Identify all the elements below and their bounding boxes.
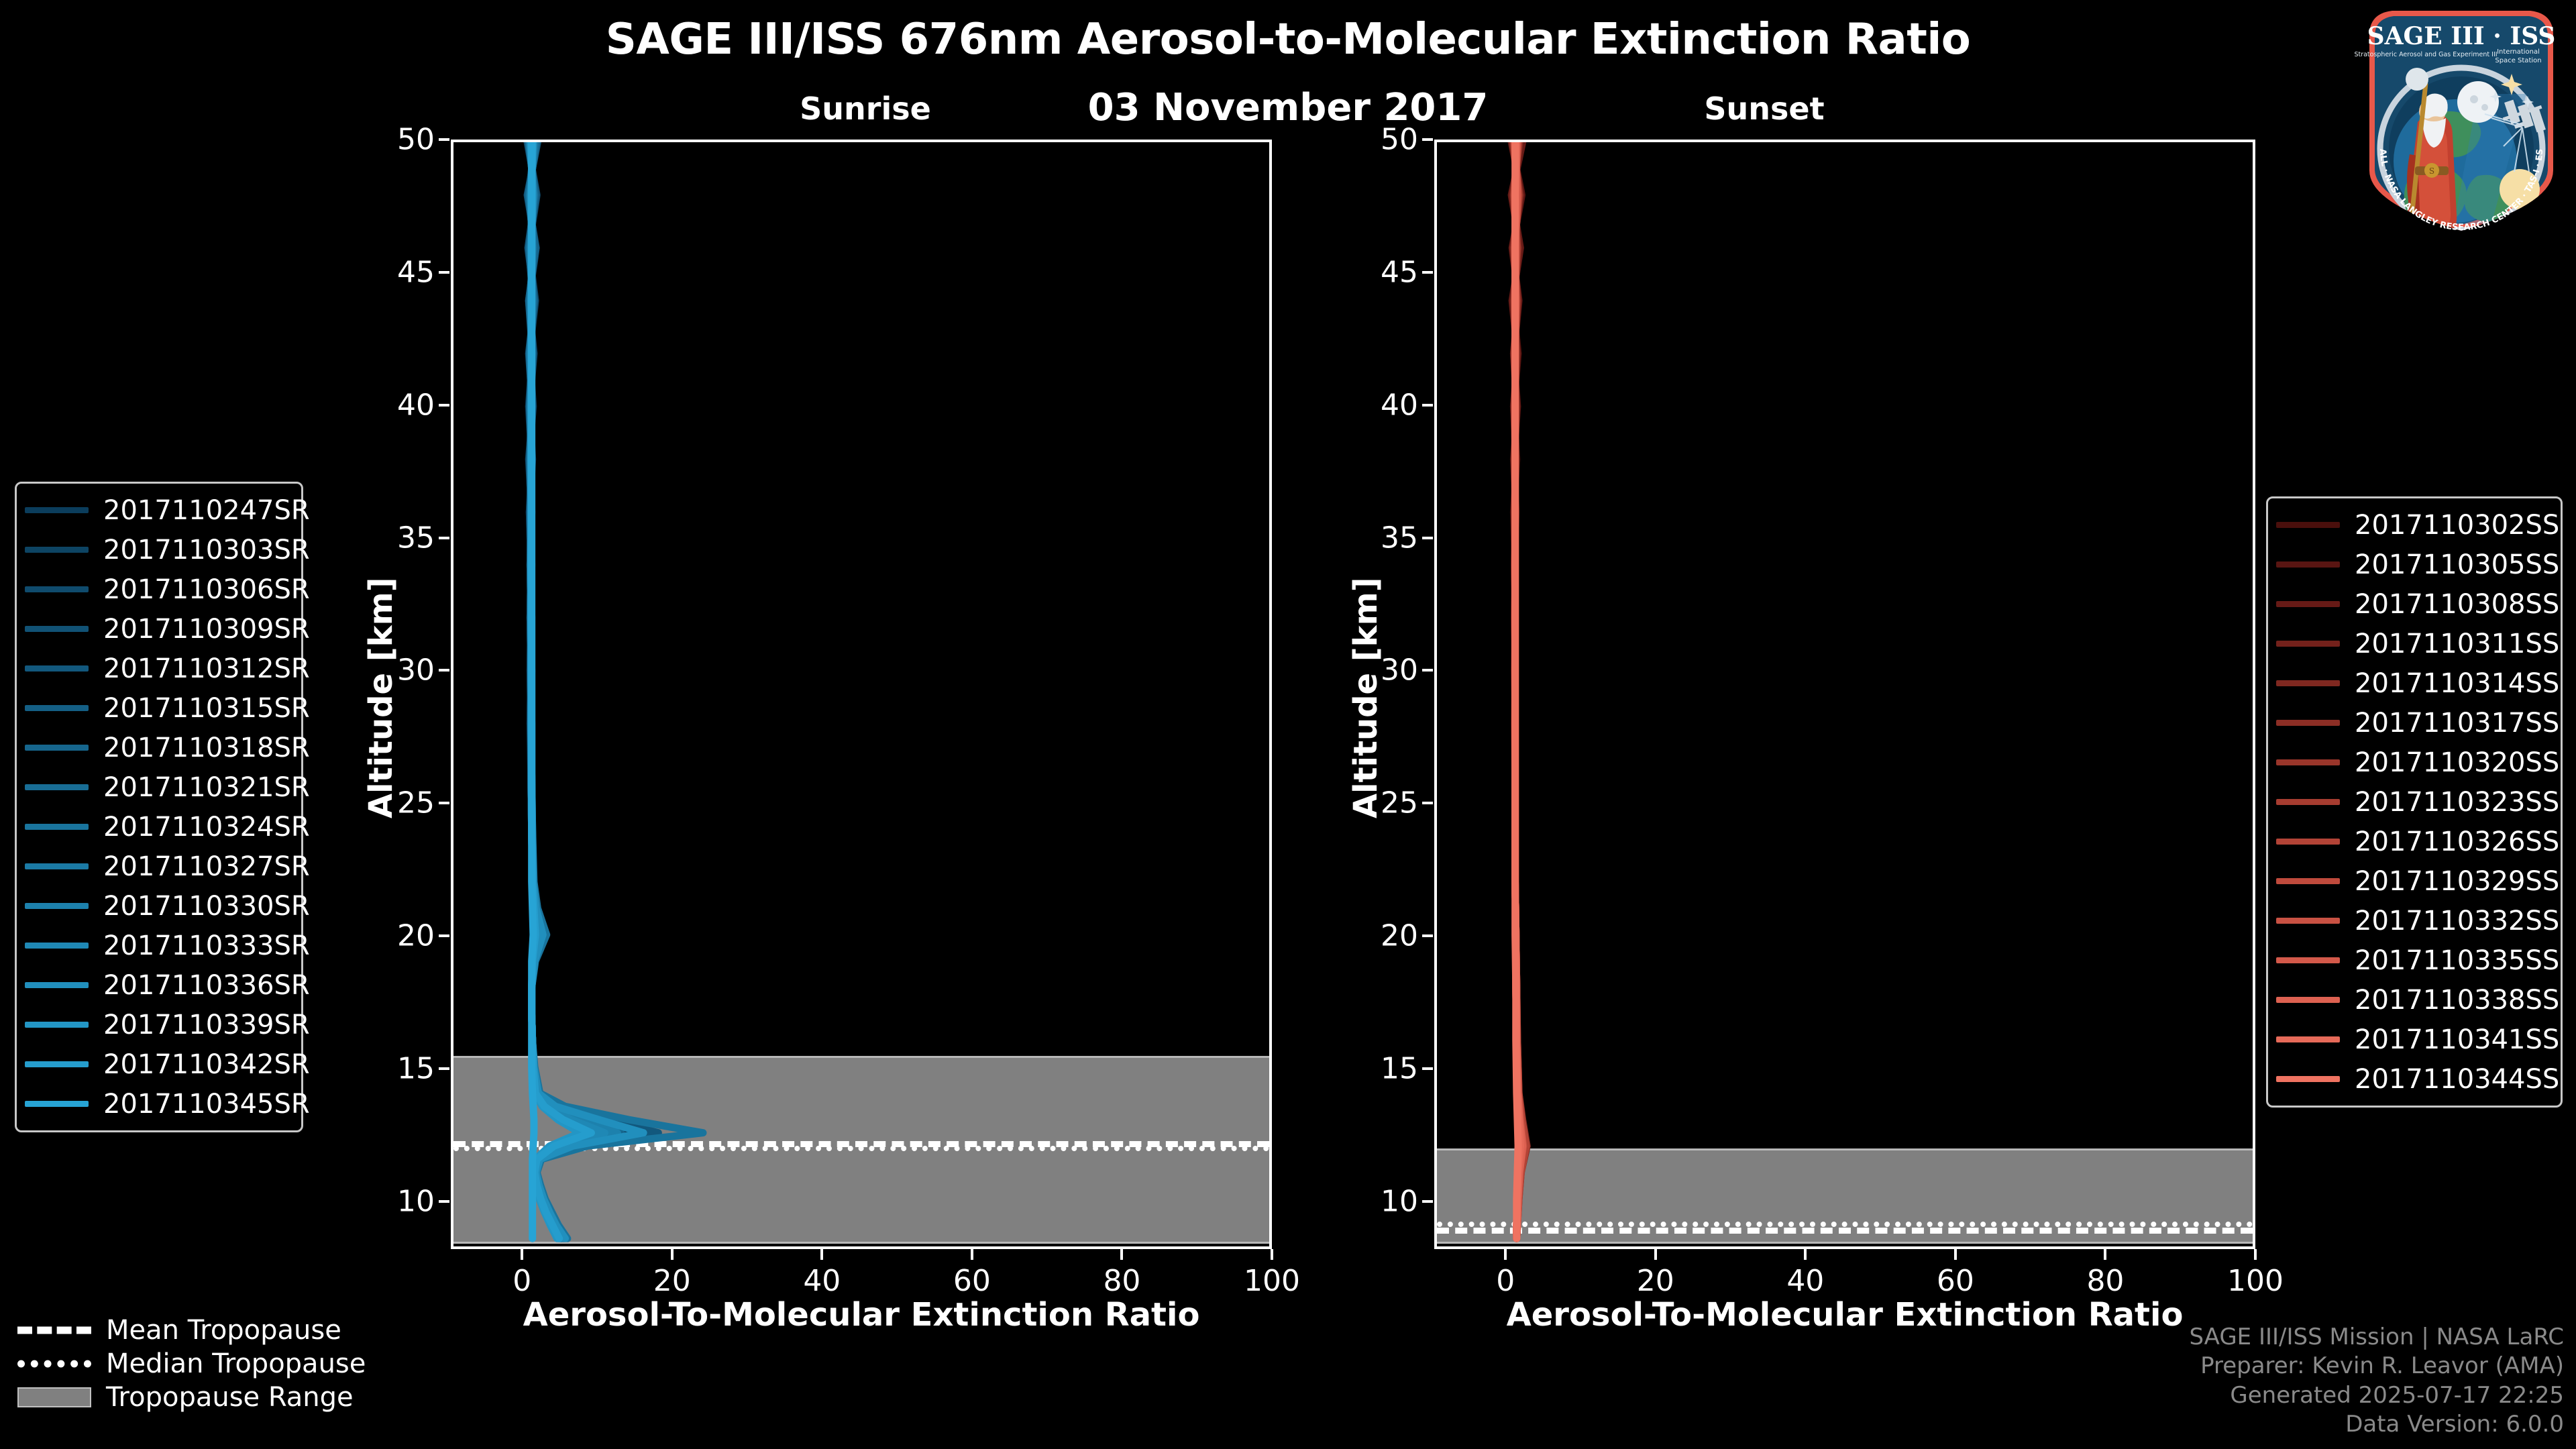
legend-item-2017110336SR[interactable]: 2017110336SR xyxy=(25,965,290,1005)
legend-item-2017110317SS[interactable]: 2017110317SS xyxy=(2276,703,2550,743)
legend-item-2017110327SR[interactable]: 2017110327SR xyxy=(25,847,290,886)
panel-caption-sunrise: Sunrise xyxy=(684,91,1046,127)
legend-color-swatch-icon xyxy=(25,745,89,751)
y-tick-mark-45 xyxy=(1422,271,1433,274)
x-tick-mark-60 xyxy=(1954,1249,1957,1260)
legend-item-2017110345SR[interactable]: 2017110345SR xyxy=(25,1084,290,1124)
legend-item-2017110341SS[interactable]: 2017110341SS xyxy=(2276,1020,2550,1059)
trace-2017110318SR xyxy=(528,142,621,1238)
legend-sunset[interactable]: 2017110302SS2017110305SS2017110308SS2017… xyxy=(2266,496,2563,1108)
panel-caption-sunset: Sunset xyxy=(1583,91,1945,127)
legend-label-2017110338SS: 2017110338SS xyxy=(2355,985,2559,1016)
x-tick-mark-80 xyxy=(2104,1249,2106,1260)
credits-block: SAGE III/ISS Mission | NASA LaRC Prepare… xyxy=(2189,1323,2564,1440)
legend-item-2017110302SS[interactable]: 2017110302SS xyxy=(2276,505,2550,545)
legend-label-2017110302SS: 2017110302SS xyxy=(2355,510,2559,541)
legend-color-swatch-icon xyxy=(2276,522,2340,528)
legend-label-2017110311SS: 2017110311SS xyxy=(2355,629,2559,659)
x-tick-label-40: 40 xyxy=(1786,1264,1824,1298)
y-tick-mark-10 xyxy=(439,1200,449,1203)
legend-color-swatch-icon xyxy=(2276,918,2340,924)
trace-2017110345SR xyxy=(532,142,534,1238)
x-tick-mark-60 xyxy=(971,1249,973,1260)
legend-color-swatch-icon xyxy=(25,863,89,869)
legend-item-2017110318SR[interactable]: 2017110318SR xyxy=(25,728,290,767)
legend-color-swatch-icon xyxy=(25,943,89,949)
legend-item-2017110342SR[interactable]: 2017110342SR xyxy=(25,1044,290,1084)
legend-color-swatch-icon xyxy=(25,547,89,553)
x-tick-mark-0 xyxy=(521,1249,523,1260)
y-axis-label-sunrise: Altitude [km] xyxy=(362,577,400,818)
y-tick-label-10: 10 xyxy=(368,1184,435,1218)
legend-item-2017110339SR[interactable]: 2017110339SR xyxy=(25,1005,290,1044)
y-tick-mark-30 xyxy=(1422,669,1433,672)
legend-item-mean-tropopause: Mean Tropopause xyxy=(17,1313,366,1347)
y-tick-mark-30 xyxy=(439,669,449,672)
legend-item-2017110330SR[interactable]: 2017110330SR xyxy=(25,886,290,926)
y-tick-mark-20 xyxy=(1422,934,1433,937)
legend-item-2017110305SS[interactable]: 2017110305SS xyxy=(2276,545,2550,584)
legend-item-2017110308SS[interactable]: 2017110308SS xyxy=(2276,584,2550,624)
x-tick-mark-20 xyxy=(671,1249,674,1260)
x-tick-mark-100 xyxy=(2254,1249,2257,1260)
legend-color-swatch-icon xyxy=(25,1022,89,1028)
x-tick-mark-40 xyxy=(820,1249,823,1260)
legend-color-swatch-icon xyxy=(25,903,89,909)
legend-color-swatch-icon xyxy=(2276,1076,2340,1082)
dashed-line-icon xyxy=(17,1322,91,1339)
y-tick-label-10: 10 xyxy=(1351,1184,1418,1218)
y-tick-mark-15 xyxy=(439,1067,449,1070)
y-tick-mark-10 xyxy=(1422,1200,1433,1203)
x-tick-label-60: 60 xyxy=(1937,1264,1974,1298)
legend-label-2017110341SS: 2017110341SS xyxy=(2355,1024,2559,1055)
y-tick-label-50: 50 xyxy=(368,123,435,157)
legend-label-2017110336SR: 2017110336SR xyxy=(103,970,310,1001)
legend-label-2017110309SR: 2017110309SR xyxy=(103,614,310,645)
y-axis-label-sunset: Altitude [km] xyxy=(1347,577,1385,818)
legend-label-2017110247SR: 2017110247SR xyxy=(103,495,310,526)
y-tick-label-50: 50 xyxy=(1351,123,1418,157)
x-axis-label-sunset: Aerosol-To-Molecular Extinction Ratio xyxy=(1434,1296,2255,1334)
legend-item-median-tropopause: Median Tropopause xyxy=(17,1347,366,1381)
legend-item-2017110332SS[interactable]: 2017110332SS xyxy=(2276,901,2550,941)
trace-2017110324SR xyxy=(529,142,703,1238)
x-tick-mark-100 xyxy=(1271,1249,1273,1260)
legend-label-2017110321SR: 2017110321SR xyxy=(103,772,310,803)
x-axis-label-sunrise: Aerosol-To-Molecular Extinction Ratio xyxy=(451,1296,1272,1334)
legend-label-2017110315SR: 2017110315SR xyxy=(103,693,310,724)
legend-item-2017110324SR[interactable]: 2017110324SR xyxy=(25,807,290,847)
x-tick-label-100: 100 xyxy=(1244,1264,1300,1298)
legend-item-2017110315SR[interactable]: 2017110315SR xyxy=(25,688,290,728)
credit-mission: SAGE III/ISS Mission | NASA LaRC xyxy=(2189,1323,2564,1352)
legend-item-2017110306SR[interactable]: 2017110306SR xyxy=(25,570,290,609)
legend-color-swatch-icon xyxy=(2276,997,2340,1003)
legend-label-mean-tropopause: Mean Tropopause xyxy=(106,1315,341,1346)
y-tick-label-45: 45 xyxy=(368,255,435,289)
y-tick-label-40: 40 xyxy=(368,388,435,422)
legend-label-2017110318SR: 2017110318SR xyxy=(103,733,310,763)
y-tick-mark-25 xyxy=(1422,802,1433,804)
x-tick-mark-80 xyxy=(1120,1249,1123,1260)
logo-subtitle-left: Stratospheric Aerosol and Gas Experiment… xyxy=(2354,51,2497,58)
legend-label-2017110345SR: 2017110345SR xyxy=(103,1089,310,1120)
legend-color-swatch-icon xyxy=(25,665,89,672)
legend-color-swatch-icon xyxy=(2276,1036,2340,1042)
trace-2017110330SR xyxy=(530,142,617,1238)
trace-group-sunset xyxy=(1437,142,2253,1246)
legend-sunrise[interactable]: 2017110247SR2017110303SR2017110306SR2017… xyxy=(15,482,303,1132)
legend-label-2017110332SS: 2017110332SS xyxy=(2355,906,2559,936)
figure-canvas: SAGE III/ISS 676nm Aerosol-to-Molecular … xyxy=(0,0,2576,1449)
trace-2017110344SS xyxy=(1515,142,1518,1238)
gray-band-swatch-icon xyxy=(17,1387,91,1407)
x-tick-label-20: 20 xyxy=(1637,1264,1674,1298)
y-tick-label-35: 35 xyxy=(368,521,435,555)
trace-2017110303SR xyxy=(527,142,629,1238)
legend-color-swatch-icon xyxy=(25,626,89,632)
legend-label-2017110312SR: 2017110312SR xyxy=(103,653,310,684)
legend-item-2017110321SR[interactable]: 2017110321SR xyxy=(25,767,290,807)
y-tick-label-20: 20 xyxy=(1351,919,1418,953)
legend-label-2017110308SS: 2017110308SS xyxy=(2355,589,2559,620)
legend-color-swatch-icon xyxy=(25,982,89,988)
y-tick-label-45: 45 xyxy=(1351,255,1418,289)
legend-label-2017110303SR: 2017110303SR xyxy=(103,535,310,566)
legend-item-2017110335SS[interactable]: 2017110335SS xyxy=(2276,941,2550,980)
y-tick-mark-40 xyxy=(1422,404,1433,407)
x-tick-label-60: 60 xyxy=(953,1264,991,1298)
y-tick-label-20: 20 xyxy=(368,919,435,953)
legend-item-2017110303SR[interactable]: 2017110303SR xyxy=(25,530,290,570)
legend-item-2017110344SS[interactable]: 2017110344SS xyxy=(2276,1059,2550,1099)
legend-item-2017110329SS[interactable]: 2017110329SS xyxy=(2276,861,2550,901)
credit-data-version: Data Version: 6.0.0 xyxy=(2189,1410,2564,1440)
y-tick-label-15: 15 xyxy=(1351,1051,1418,1085)
legend-label-2017110329SS: 2017110329SS xyxy=(2355,866,2559,897)
legend-label-2017110339SR: 2017110339SR xyxy=(103,1010,310,1040)
logo-subtitle-right-line2: Space Station xyxy=(2495,57,2541,64)
legend-label-2017110324SR: 2017110324SR xyxy=(103,812,310,843)
y-tick-mark-15 xyxy=(1422,1067,1433,1070)
legend-color-swatch-icon xyxy=(2276,759,2340,765)
logo-title: SAGE III · ISS xyxy=(2367,22,2556,50)
credit-generated: Generated 2025-07-17 22:25 xyxy=(2189,1381,2564,1411)
legend-label-2017110326SS: 2017110326SS xyxy=(2355,826,2559,857)
x-tick-label-0: 0 xyxy=(513,1264,531,1298)
tropopause-legend: Mean Tropopause Median Tropopause Tropop… xyxy=(17,1313,366,1414)
legend-label-2017110306SR: 2017110306SR xyxy=(103,574,310,605)
legend-item-2017110338SS[interactable]: 2017110338SS xyxy=(2276,980,2550,1020)
legend-item-2017110320SS[interactable]: 2017110320SS xyxy=(2276,743,2550,782)
legend-item-2017110309SR[interactable]: 2017110309SR xyxy=(25,609,290,649)
legend-label-2017110323SS: 2017110323SS xyxy=(2355,787,2559,818)
sage-iii-iss-mission-patch-logo: S SAGE III · ISS Stratospheric Aerosol a… xyxy=(2353,3,2569,237)
trace-2017110306SR xyxy=(527,142,614,1238)
trace-2017110336SR xyxy=(531,142,643,1238)
trace-group-sunrise xyxy=(453,142,1269,1246)
legend-label-2017110335SS: 2017110335SS xyxy=(2355,945,2559,976)
legend-item-2017110314SS[interactable]: 2017110314SS xyxy=(2276,663,2550,703)
legend-color-swatch-icon xyxy=(25,507,89,513)
legend-item-2017110323SS[interactable]: 2017110323SS xyxy=(2276,782,2550,822)
legend-color-swatch-icon xyxy=(2276,799,2340,805)
legend-color-swatch-icon xyxy=(25,1101,89,1107)
y-tick-mark-50 xyxy=(439,138,449,141)
y-tick-mark-40 xyxy=(439,404,449,407)
y-tick-label-15: 15 xyxy=(368,1051,435,1085)
trace-2017110333SR xyxy=(530,142,604,1238)
legend-label-2017110320SS: 2017110320SS xyxy=(2355,747,2559,778)
legend-color-swatch-icon xyxy=(2276,561,2340,568)
plot-area-sunrise xyxy=(451,140,1272,1249)
trace-2017110342SR xyxy=(532,142,592,1238)
legend-color-swatch-icon xyxy=(25,586,89,592)
plot-area-sunset xyxy=(1434,140,2255,1249)
legend-label-2017110305SS: 2017110305SS xyxy=(2355,549,2559,580)
legend-label-2017110317SS: 2017110317SS xyxy=(2355,708,2559,739)
legend-label-2017110333SR: 2017110333SR xyxy=(103,930,310,961)
x-tick-label-40: 40 xyxy=(803,1264,841,1298)
y-tick-mark-35 xyxy=(439,537,449,539)
legend-color-swatch-icon xyxy=(2276,957,2340,963)
legend-label-2017110314SS: 2017110314SS xyxy=(2355,668,2559,699)
x-tick-mark-40 xyxy=(1804,1249,1807,1260)
x-tick-mark-0 xyxy=(1504,1249,1507,1260)
credit-preparer: Preparer: Kevin R. Leavor (AMA) xyxy=(2189,1352,2564,1381)
x-tick-label-100: 100 xyxy=(2227,1264,2284,1298)
y-tick-mark-45 xyxy=(439,271,449,274)
x-tick-label-20: 20 xyxy=(653,1264,691,1298)
legend-item-2017110247SR[interactable]: 2017110247SR xyxy=(25,490,290,530)
legend-item-2017110312SR[interactable]: 2017110312SR xyxy=(25,649,290,688)
x-tick-mark-20 xyxy=(1654,1249,1657,1260)
y-tick-mark-20 xyxy=(439,934,449,937)
y-tick-mark-35 xyxy=(1422,537,1433,539)
legend-color-swatch-icon xyxy=(25,824,89,830)
dotted-line-icon xyxy=(17,1355,91,1373)
legend-color-swatch-icon xyxy=(25,1061,89,1067)
legend-color-swatch-icon xyxy=(2276,601,2340,607)
x-tick-label-80: 80 xyxy=(2086,1264,2124,1298)
legend-color-swatch-icon xyxy=(25,705,89,711)
legend-color-swatch-icon xyxy=(2276,680,2340,686)
y-tick-label-40: 40 xyxy=(1351,388,1418,422)
legend-item-2017110333SR[interactable]: 2017110333SR xyxy=(25,926,290,965)
x-tick-label-0: 0 xyxy=(1496,1264,1515,1298)
legend-color-swatch-icon xyxy=(2276,641,2340,647)
legend-label-2017110342SR: 2017110342SR xyxy=(103,1049,310,1080)
page-title: SAGE III/ISS 676nm Aerosol-to-Molecular … xyxy=(0,15,2576,64)
legend-color-swatch-icon xyxy=(2276,878,2340,884)
legend-label-2017110327SR: 2017110327SR xyxy=(103,851,310,882)
legend-item-2017110311SS[interactable]: 2017110311SS xyxy=(2276,624,2550,663)
legend-label-median-tropopause: Median Tropopause xyxy=(106,1348,366,1379)
legend-label-tropopause-range: Tropopause Range xyxy=(106,1382,354,1413)
legend-item-tropopause-range: Tropopause Range xyxy=(17,1381,366,1414)
legend-color-swatch-icon xyxy=(2276,839,2340,845)
x-tick-label-80: 80 xyxy=(1103,1264,1140,1298)
legend-label-2017110344SS: 2017110344SS xyxy=(2355,1064,2559,1095)
legend-item-2017110326SS[interactable]: 2017110326SS xyxy=(2276,822,2550,861)
logo-subtitle-right-line1: International xyxy=(2497,48,2540,56)
trace-2017110312SR xyxy=(529,142,658,1238)
legend-color-swatch-icon xyxy=(25,784,89,790)
legend-color-swatch-icon xyxy=(2276,720,2340,726)
y-tick-label-35: 35 xyxy=(1351,521,1418,555)
svg-text:S: S xyxy=(2429,166,2434,176)
y-tick-mark-50 xyxy=(1422,138,1433,141)
legend-label-2017110330SR: 2017110330SR xyxy=(103,891,310,922)
y-tick-mark-25 xyxy=(439,802,449,804)
